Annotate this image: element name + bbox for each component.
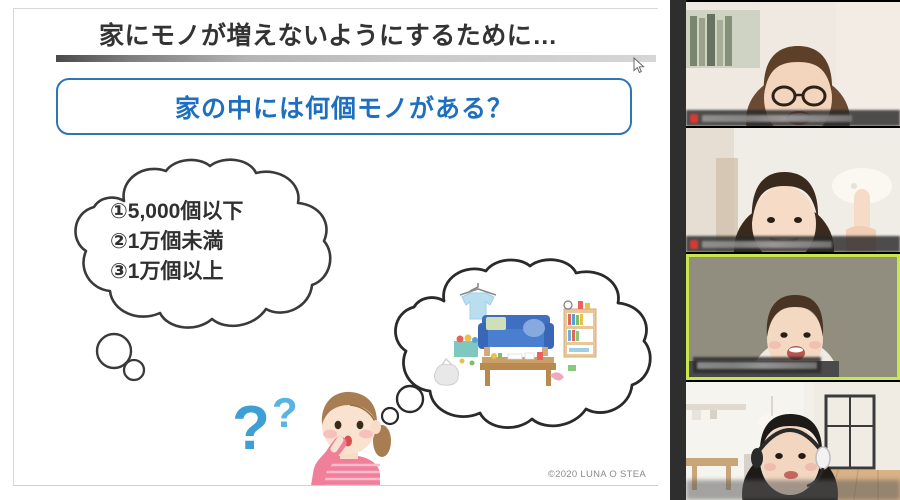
title-divider-rule — [56, 55, 656, 62]
copyright-notice: ©2020 LUNA O STEA — [548, 469, 646, 480]
participant-name-3 — [697, 362, 817, 369]
screen-share-view: 家にモノが増えないようにするために… 家の中には何個モノがある？ ①5,000個… — [0, 0, 900, 500]
mic-muted-icon — [690, 114, 698, 123]
participant-name-strip-3 — [693, 357, 821, 373]
answer-option-2: ②1万個未満 — [110, 227, 340, 257]
question-mark-large: ? — [232, 394, 270, 463]
participant-name-2 — [702, 241, 832, 248]
participant-tile-3[interactable] — [686, 254, 900, 380]
bookshelf-icon — [564, 301, 596, 357]
thought-bubble-tail-left — [86, 331, 156, 391]
mouse-cursor — [633, 57, 645, 74]
participant-tile-1[interactable] — [686, 2, 900, 126]
answer-options-list: ①5,000個以下 ②1万個未満 ③1万個以上 — [110, 197, 340, 286]
question-callout-box: 家の中には何個モノがある？ — [56, 78, 632, 135]
answer-option-3: ③1万個以上 — [110, 257, 340, 287]
mic-muted-icon — [690, 240, 698, 249]
participant-name-strip-1 — [686, 110, 900, 126]
participant-video-rail — [686, 0, 900, 500]
page-title: 家にモノが増えないようにするために… — [99, 19, 619, 53]
question-mark-small: ? — [272, 389, 298, 436]
participant-tile-4[interactable] — [686, 382, 900, 500]
puzzled-woman-illustration — [296, 383, 404, 485]
participant-name-strip-2 — [686, 236, 900, 252]
panel-divider — [670, 0, 686, 500]
slide-frame: 家にモノが増えないようにするために… 家の中には何個モノがある？ ①5,000個… — [13, 8, 658, 486]
question-callout-text: 家の中には何個モノがある？ — [175, 89, 513, 125]
shared-slide-region: 家にモノが増えないようにするために… 家の中には何個モノがある？ ①5,000個… — [0, 0, 670, 500]
participant-tile-2[interactable] — [686, 128, 900, 252]
participant-name-1 — [702, 115, 852, 122]
participant-name-strip-4 — [686, 480, 900, 500]
answer-option-1: ①5,000個以下 — [110, 197, 340, 227]
